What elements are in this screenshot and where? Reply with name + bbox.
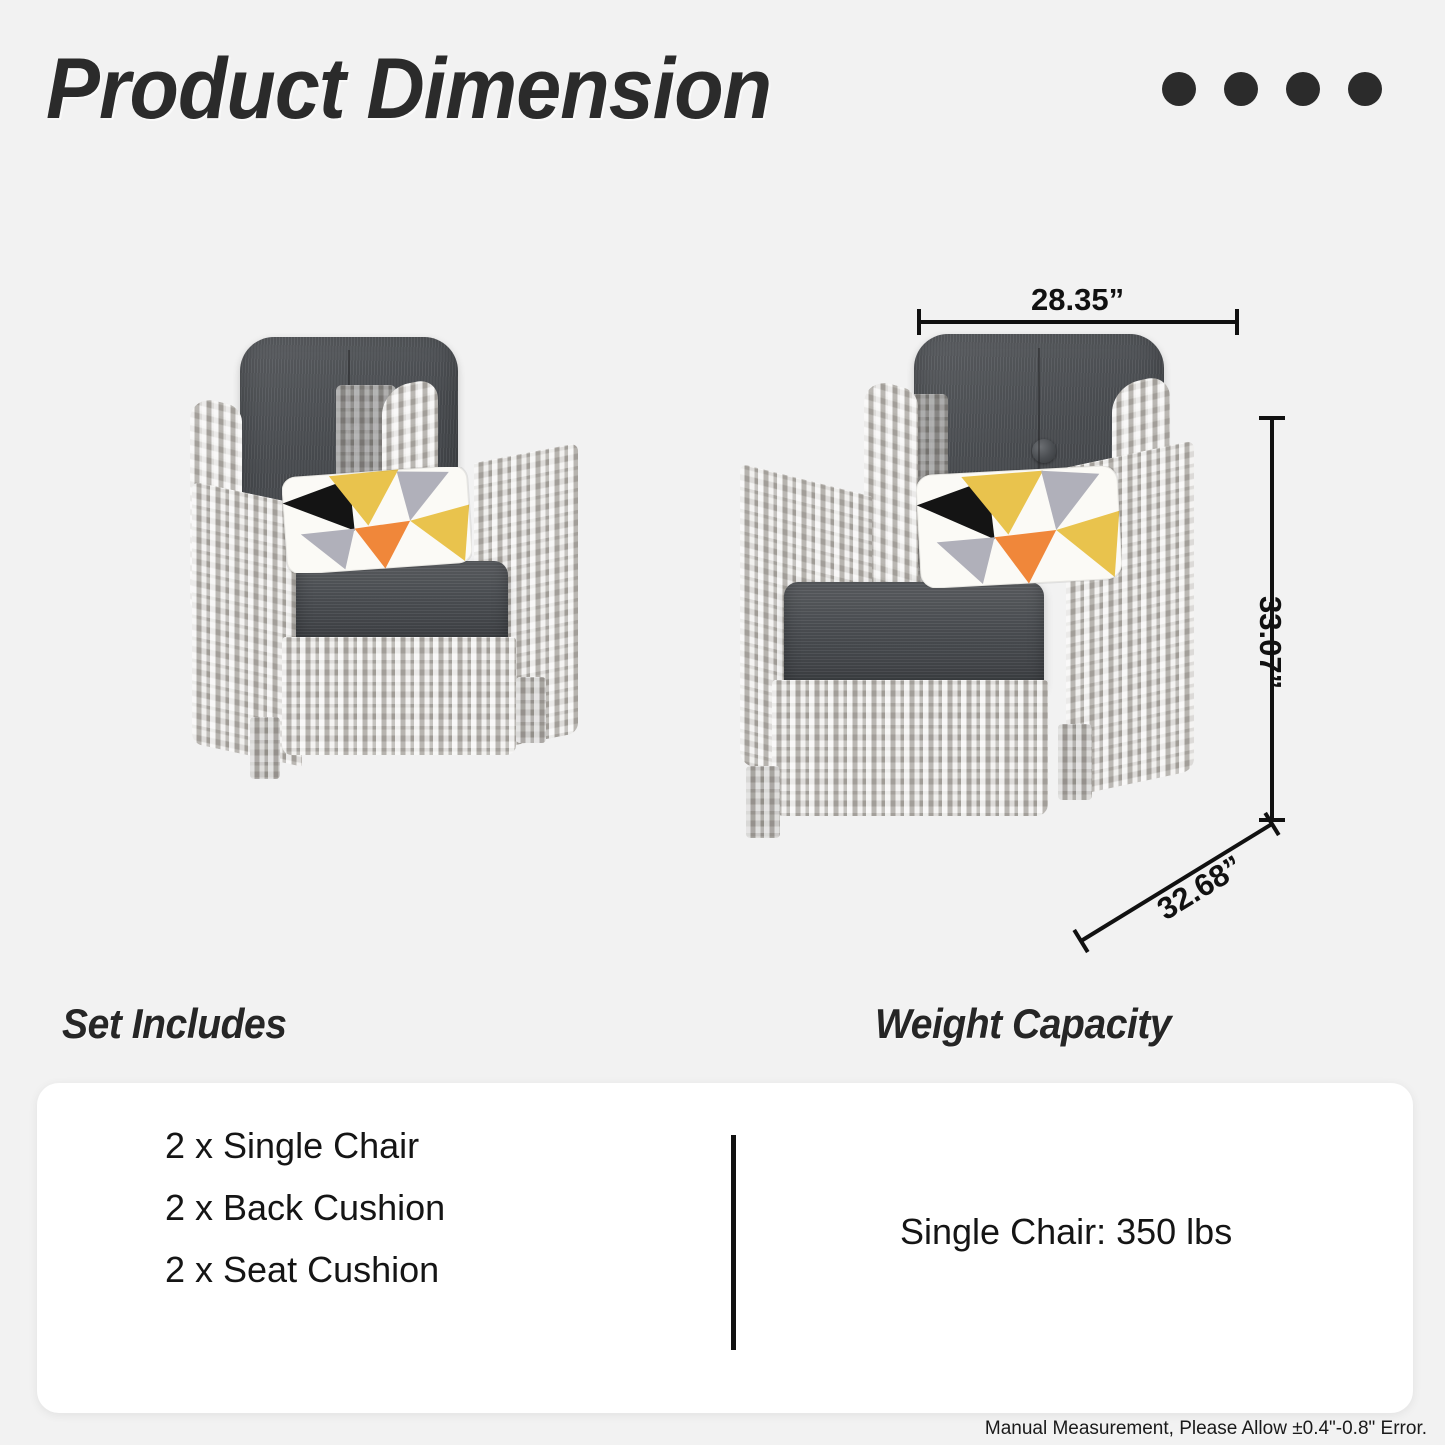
chair-left-image	[186, 325, 656, 850]
dimension-width-label: 28.35”	[1031, 282, 1124, 318]
chair-leg	[250, 717, 280, 779]
throw-pillow	[282, 467, 472, 573]
chair-right-image	[716, 318, 1246, 883]
chair-front-apron	[772, 680, 1048, 816]
set-includes-list: 2 x Single Chair 2 x Back Cushion 2 x Se…	[165, 1125, 445, 1291]
dot-icon	[1348, 72, 1382, 106]
weight-capacity-heading: Weight Capacity	[875, 1000, 1171, 1048]
dot-icon	[1286, 72, 1320, 106]
list-item: 2 x Seat Cushion	[165, 1249, 445, 1291]
dot-icon	[1224, 72, 1258, 106]
throw-pillow	[916, 466, 1122, 588]
dimension-width-cap-left	[917, 309, 921, 335]
infographic-page: Product Dimension	[0, 0, 1445, 1445]
weight-capacity-value: Single Chair: 350 lbs	[900, 1211, 1232, 1253]
set-includes-heading: Set Includes	[62, 1000, 287, 1048]
list-item: 2 x Single Chair	[165, 1125, 445, 1167]
dimension-height-cap-top	[1259, 416, 1285, 420]
dimension-height-label: 33.07”	[1252, 596, 1288, 689]
chair-front-apron	[282, 637, 516, 755]
chair-leg	[746, 766, 780, 838]
measurement-disclaimer: Manual Measurement, Please Allow ±0.4"-0…	[985, 1418, 1427, 1440]
seat-cushion	[296, 561, 508, 647]
dimension-depth-cap-left	[1073, 929, 1090, 953]
chair-leg	[1058, 724, 1092, 800]
product-illustration: 28.35” 33.07” 32.68”	[0, 250, 1445, 980]
decorative-dots	[1162, 72, 1382, 106]
seat-cushion	[784, 582, 1044, 690]
page-title: Product Dimension	[46, 40, 771, 139]
dot-icon	[1162, 72, 1196, 106]
list-item: 2 x Back Cushion	[165, 1187, 445, 1229]
dimension-width-line	[917, 320, 1239, 324]
tuft-button-icon	[1032, 439, 1056, 463]
dimension-width-cap-right	[1235, 309, 1239, 335]
card-divider	[731, 1135, 736, 1350]
chair-leg	[516, 677, 546, 743]
info-card: 2 x Single Chair 2 x Back Cushion 2 x Se…	[37, 1083, 1413, 1413]
